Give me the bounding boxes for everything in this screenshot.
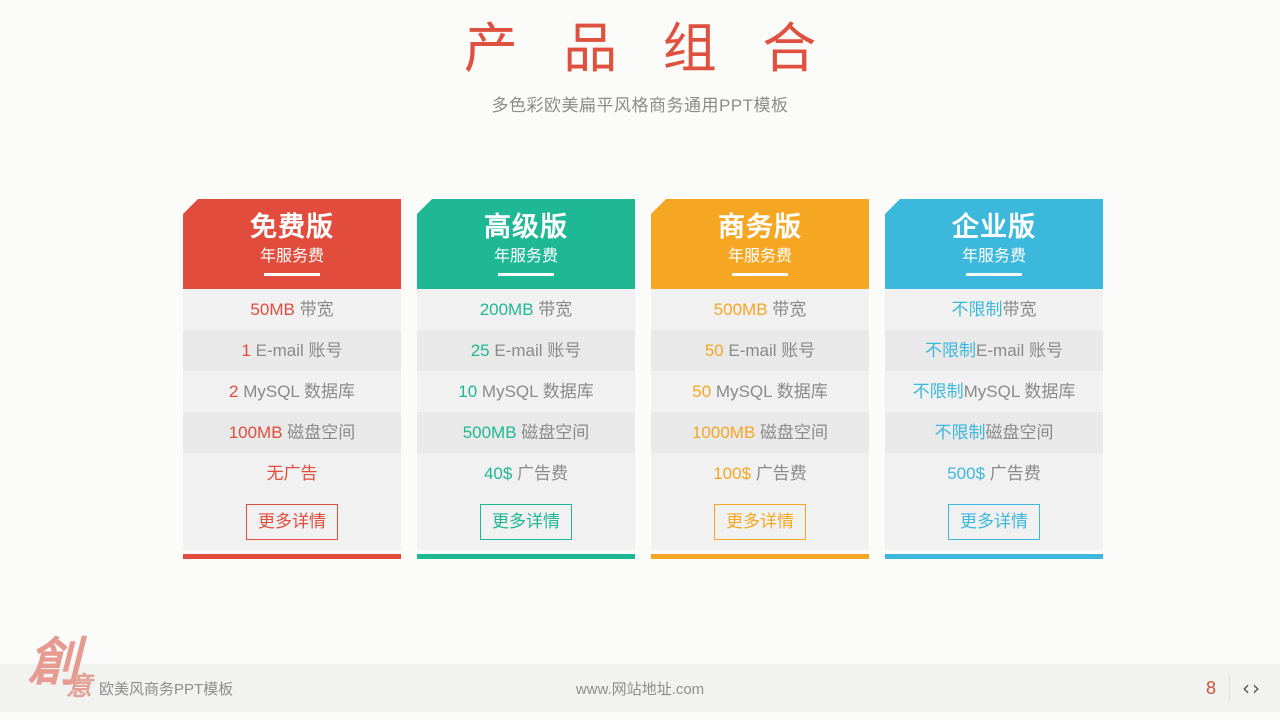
plan-feature-label: 带宽 — [295, 300, 334, 319]
plan-feature-label: MySQL 数据库 — [477, 382, 594, 401]
plan-feature-value: 500MB — [714, 300, 768, 319]
plan-feature-label: E-mail 账号 — [724, 341, 816, 360]
plan-feature-value: 不限制 — [913, 382, 964, 401]
more-details-button[interactable]: 更多详情 — [714, 504, 806, 540]
plan-feature-label: 带宽 — [1003, 300, 1037, 319]
plan-feature-row: 50 MySQL 数据库 — [651, 371, 869, 412]
plan-feature-value: 1000MB — [692, 423, 755, 442]
plan-name: 商务版 — [651, 210, 869, 244]
prev-slide-icon[interactable]: ‹ — [1242, 675, 1250, 701]
plan-feature-list: 50MB 带宽1 E-mail 账号2 MySQL 数据库100MB 磁盘空间无… — [183, 289, 401, 494]
slide-footer: 創 意 欧美风商务PPT模板 www.网站地址.com 8 ‹ › — [0, 664, 1280, 712]
plan-feature-value: 500$ — [947, 464, 985, 483]
plan-name: 高级版 — [417, 210, 635, 244]
plan-feature-label: MySQL 数据库 — [964, 382, 1076, 401]
plan-name: 企业版 — [885, 210, 1103, 244]
plan-cta-area: 更多详情 — [651, 494, 869, 550]
plan-feature-value: 不限制 — [935, 423, 986, 442]
pricing-card: 高级版年服务费200MB 带宽25 E-mail 账号10 MySQL 数据库5… — [417, 199, 635, 559]
plan-feature-row: 不限制E-mail 账号 — [885, 330, 1103, 371]
pricing-card-header: 商务版年服务费 — [651, 199, 869, 289]
plan-feature-list: 不限制带宽不限制E-mail 账号不限制MySQL 数据库不限制磁盘空间500$… — [885, 289, 1103, 494]
pricing-card-accent-bar — [417, 554, 635, 559]
pricing-card: 企业版年服务费不限制带宽不限制E-mail 账号不限制MySQL 数据库不限制磁… — [885, 199, 1103, 559]
plan-feature-label: 带宽 — [534, 300, 573, 319]
plan-period-underline — [966, 273, 1022, 276]
plan-feature-value: 不限制 — [925, 341, 976, 360]
plan-feature-label: 广告费 — [751, 464, 807, 483]
plan-feature-row: 500MB 磁盘空间 — [417, 412, 635, 453]
plan-feature-row: 1000MB 磁盘空间 — [651, 412, 869, 453]
page-number: 8 — [1206, 673, 1229, 703]
plan-feature-label: MySQL 数据库 — [711, 382, 828, 401]
plan-period-underline — [264, 273, 320, 276]
plan-feature-row: 100MB 磁盘空间 — [183, 412, 401, 453]
plan-feature-label: E-mail 账号 — [251, 341, 343, 360]
pricing-card-header: 高级版年服务费 — [417, 199, 635, 289]
plan-feature-row: 10 MySQL 数据库 — [417, 371, 635, 412]
more-details-button[interactable]: 更多详情 — [948, 504, 1040, 540]
plan-feature-row: 50MB 带宽 — [183, 289, 401, 330]
plan-feature-value: 10 — [458, 382, 477, 401]
pricing-card-accent-bar — [183, 554, 401, 559]
plan-feature-label: 磁盘空间 — [755, 423, 828, 442]
pricing-card-header: 免费版年服务费 — [183, 199, 401, 289]
pricing-card-accent-bar — [651, 554, 869, 559]
pricing-card: 商务版年服务费500MB 带宽50 E-mail 账号50 MySQL 数据库1… — [651, 199, 869, 559]
more-details-button[interactable]: 更多详情 — [480, 504, 572, 540]
plan-feature-row: 40$ 广告费 — [417, 453, 635, 494]
plan-period: 年服务费 — [885, 245, 1103, 269]
plan-feature-label: MySQL 数据库 — [238, 382, 355, 401]
page-title: 产 品 组 合 — [0, 14, 1280, 84]
slide-navigation: ‹ › — [1229, 675, 1260, 701]
plan-feature-value: 200MB — [480, 300, 534, 319]
plan-feature-value: 40$ — [484, 464, 512, 483]
footer-website-url: www.网站地址.com — [0, 678, 1280, 699]
plan-feature-label: E-mail 账号 — [976, 341, 1063, 360]
plan-feature-value: 100$ — [713, 464, 751, 483]
plan-feature-row: 500$ 广告费 — [885, 453, 1103, 494]
plan-feature-list: 500MB 带宽50 E-mail 账号50 MySQL 数据库1000MB 磁… — [651, 289, 869, 494]
brand-logo: 創 意 — [28, 636, 114, 714]
pricing-table: 免费版年服务费50MB 带宽1 E-mail 账号2 MySQL 数据库100M… — [183, 199, 1103, 559]
plan-feature-value: 100MB — [229, 423, 283, 442]
plan-feature-label: 广告费 — [985, 464, 1041, 483]
slide-header: 产 品 组 合 多色彩欧美扁平风格商务通用PPT模板 — [0, 0, 1280, 118]
plan-feature-label: 磁盘空间 — [283, 423, 356, 442]
next-slide-icon[interactable]: › — [1252, 675, 1260, 701]
plan-period: 年服务费 — [651, 245, 869, 269]
plan-feature-row: 200MB 带宽 — [417, 289, 635, 330]
plan-period-underline — [498, 273, 554, 276]
plan-period-underline — [732, 273, 788, 276]
plan-cta-area: 更多详情 — [417, 494, 635, 550]
more-details-button[interactable]: 更多详情 — [246, 504, 338, 540]
plan-feature-label: 磁盘空间 — [517, 423, 590, 442]
plan-feature-row: 25 E-mail 账号 — [417, 330, 635, 371]
plan-feature-label: 磁盘空间 — [986, 423, 1054, 442]
plan-feature-row: 不限制带宽 — [885, 289, 1103, 330]
page-subtitle: 多色彩欧美扁平风格商务通用PPT模板 — [0, 94, 1280, 118]
plan-feature-value: 1 — [241, 341, 250, 360]
plan-feature-row: 1 E-mail 账号 — [183, 330, 401, 371]
plan-feature-label: 广告费 — [512, 464, 568, 483]
footer-controls: 8 ‹ › — [1206, 673, 1260, 703]
plan-feature-value: 500MB — [463, 423, 517, 442]
plan-period: 年服务费 — [183, 245, 401, 269]
plan-name: 免费版 — [183, 210, 401, 244]
plan-period: 年服务费 — [417, 245, 635, 269]
plan-feature-row: 50 E-mail 账号 — [651, 330, 869, 371]
plan-feature-value: 50 — [692, 382, 711, 401]
plan-feature-row: 2 MySQL 数据库 — [183, 371, 401, 412]
plan-feature-value: 50MB — [250, 300, 294, 319]
plan-cta-area: 更多详情 — [885, 494, 1103, 550]
plan-feature-label: 带宽 — [768, 300, 807, 319]
plan-feature-row: 不限制MySQL 数据库 — [885, 371, 1103, 412]
plan-feature-row: 100$ 广告费 — [651, 453, 869, 494]
plan-feature-row: 不限制磁盘空间 — [885, 412, 1103, 453]
plan-feature-label: E-mail 账号 — [490, 341, 582, 360]
plan-cta-area: 更多详情 — [183, 494, 401, 550]
plan-feature-row: 500MB 带宽 — [651, 289, 869, 330]
plan-feature-list: 200MB 带宽25 E-mail 账号10 MySQL 数据库500MB 磁盘… — [417, 289, 635, 494]
plan-feature-value: 50 — [705, 341, 724, 360]
pricing-card-accent-bar — [885, 554, 1103, 559]
pricing-card-header: 企业版年服务费 — [885, 199, 1103, 289]
plan-feature-value: 25 — [471, 341, 490, 360]
plan-feature-value: 无广告 — [267, 464, 318, 483]
plan-feature-value: 不限制 — [952, 300, 1003, 319]
plan-feature-row: 无广告 — [183, 453, 401, 494]
pricing-card: 免费版年服务费50MB 带宽1 E-mail 账号2 MySQL 数据库100M… — [183, 199, 401, 559]
